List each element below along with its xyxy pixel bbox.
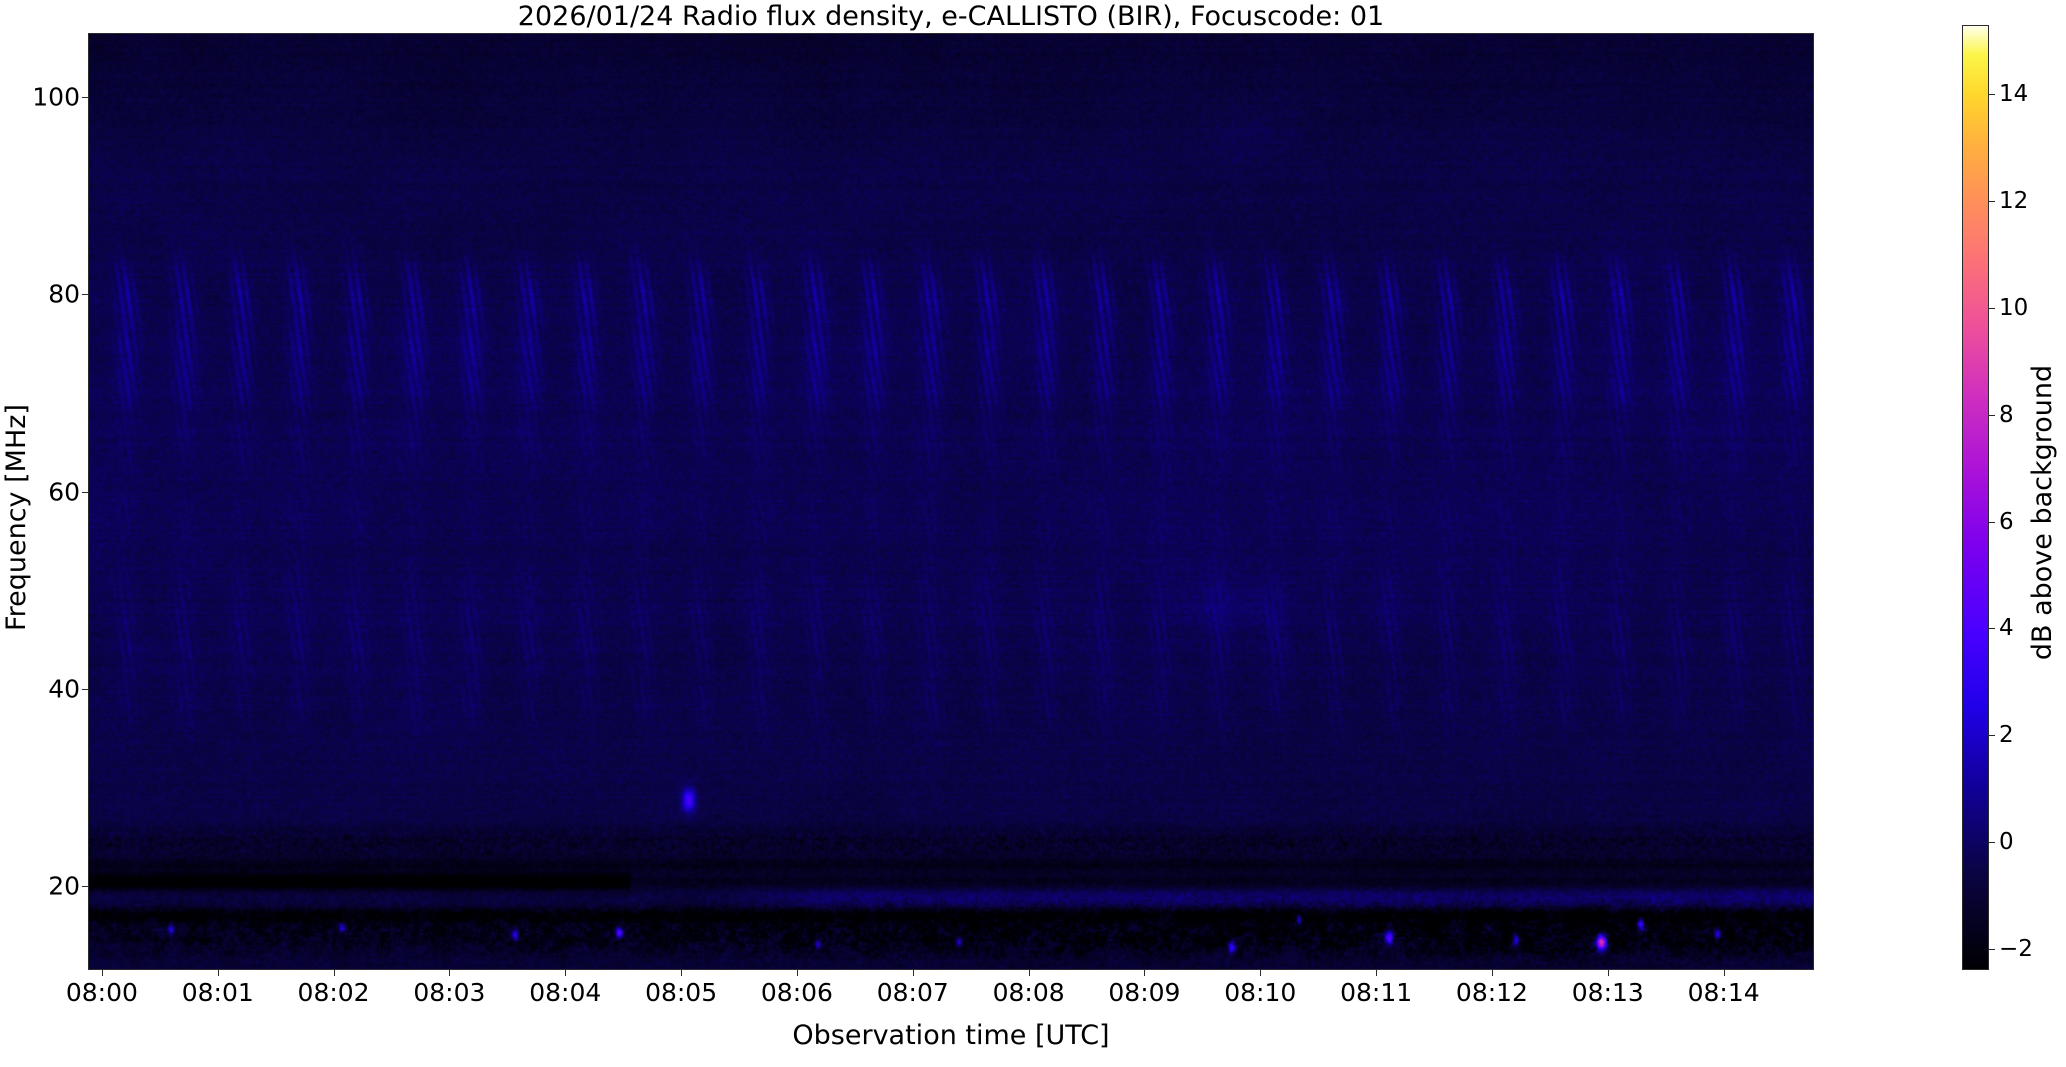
colorbar-tick-label: 14 [1999,81,2028,107]
x-axis-label: Observation time [UTC] [88,1020,1814,1051]
colorbar-tick-label: 10 [1999,295,2028,321]
colorbar-tick-label: 0 [1999,829,2014,855]
figure-canvas: 2026/01/24 Radio flux density, e-CALLIST… [0,0,2066,1067]
y-tick-mark [82,97,88,98]
y-axis-label: Frequency [MHz] [1,49,32,986]
x-tick-mark [1029,970,1030,976]
x-tick-mark [913,970,914,976]
page-title: 2026/01/24 Radio flux density, e-CALLIST… [88,2,1814,32]
x-tick-mark [449,970,450,976]
x-tick-mark [1144,970,1145,976]
colorbar-gradient [1963,26,1988,969]
spectrogram-axes [88,33,1814,970]
y-tick-mark [82,689,88,690]
spectrogram-image [89,34,1813,969]
x-tick-mark [1492,970,1493,976]
colorbar-tick-mark [1989,201,1995,202]
y-tick-mark [82,294,88,295]
x-tick-mark [797,970,798,976]
x-tick-mark [681,970,682,976]
colorbar-tick-mark [1989,308,1995,309]
colorbar-tick-mark [1989,842,1995,843]
colorbar-label: dB above background [2027,40,2058,985]
x-tick-mark [334,970,335,976]
y-tick-mark [82,886,88,887]
colorbar-tick-label: 6 [1999,509,2014,535]
x-tick-mark [102,970,103,976]
x-tick-mark [218,970,219,976]
x-tick-mark [1376,970,1377,976]
colorbar-tick-mark [1989,94,1995,95]
x-tick-mark [1608,970,1609,976]
colorbar [1962,25,1989,970]
x-tick-label: 08:14 [1654,978,1794,1007]
x-tick-mark [565,970,566,976]
colorbar-tick-label: 4 [1999,615,2014,641]
colorbar-tick-mark [1989,415,1995,416]
y-tick-mark [82,492,88,493]
x-tick-mark [1724,970,1725,976]
colorbar-tick-label: 2 [1999,722,2014,748]
colorbar-tick-label: 8 [1999,402,2014,428]
colorbar-tick-label: 12 [1999,188,2028,214]
colorbar-tick-mark [1989,949,1995,950]
x-tick-mark [1260,970,1261,976]
colorbar-tick-mark [1989,628,1995,629]
colorbar-tick-mark [1989,735,1995,736]
colorbar-tick-mark [1989,522,1995,523]
